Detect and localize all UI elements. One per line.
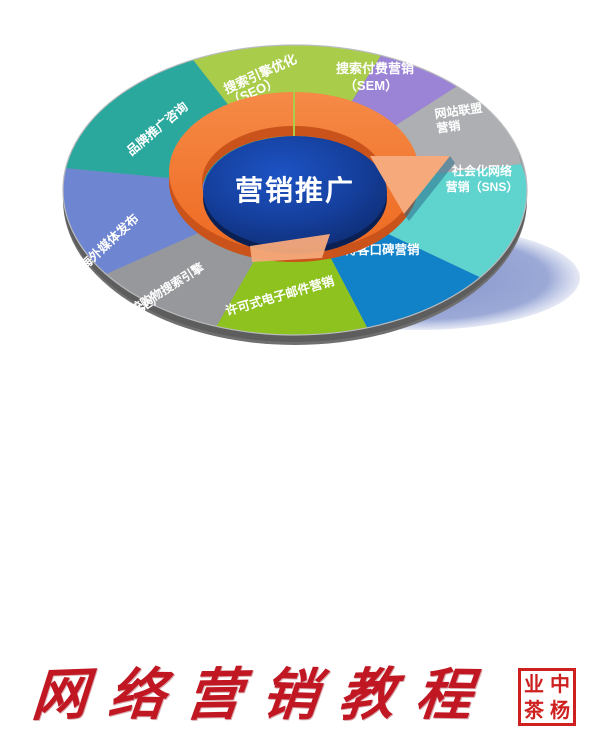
title-char-3: 营 (183, 667, 245, 724)
segment-label-sns-line2: 营销（SNS） (446, 179, 519, 194)
center-label: 营销推广 (235, 175, 355, 206)
title-char-1: 网 (30, 666, 90, 724)
seal-char-1: 业 (521, 671, 547, 697)
seal-char-2: 中 (547, 671, 573, 697)
seal-stamp: 业 中 茶 杨 (518, 668, 576, 726)
title-char-2: 络 (106, 667, 168, 724)
seal-char-3: 茶 (521, 697, 547, 723)
page-title: 网 络 营 销 教 程 (32, 662, 472, 728)
title-char-6: 程 (413, 667, 475, 724)
segment-label-sem-line1: 搜索付费营销 (336, 61, 414, 76)
infographic-canvas: 搜索引擎优化 （SEO） 搜索付费营销 （SEM） 网站联盟 营销 社会化网络 … (0, 0, 600, 400)
title-char-5: 教 (336, 666, 398, 724)
segment-label-sem-line2: （SEM） (344, 78, 398, 93)
seal-char-4: 杨 (547, 697, 573, 723)
title-band: 网 络 营 销 教 程 业 中 茶 杨 (0, 330, 600, 400)
title-char-4: 销 (260, 666, 322, 724)
segment-label-sns-line1: 社会化网络 (451, 163, 512, 178)
